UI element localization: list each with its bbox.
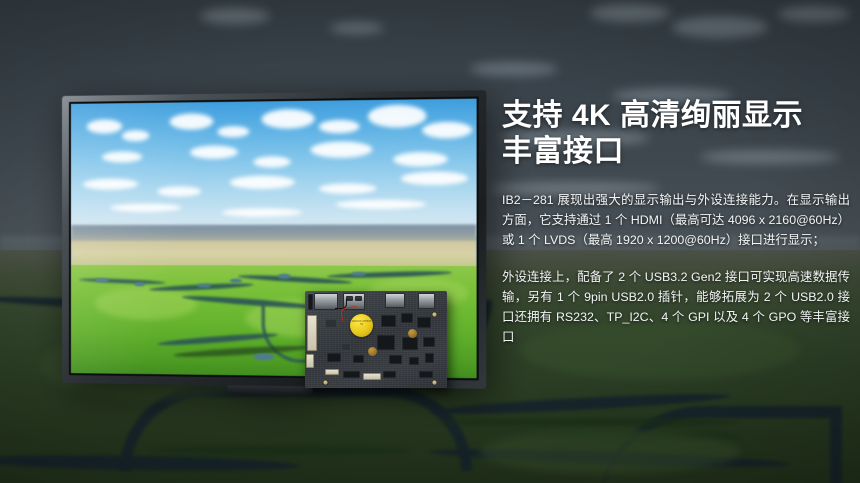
inductor-coil	[408, 329, 417, 338]
screen-pond	[230, 278, 242, 282]
gpio-pin-header	[343, 371, 360, 378]
screen-cloud	[110, 203, 181, 211]
page-title: 支持 4K 高清绚丽显示 丰富接口	[502, 98, 850, 170]
screen-cloud	[254, 156, 290, 167]
product-slide: CR2032 LITHIUM 3V 支持 4K 高清绚丽显示 丰富接口 IB	[0, 0, 860, 483]
ic-chip	[381, 315, 396, 327]
ic-chip	[425, 353, 434, 363]
screen-pond	[94, 278, 108, 283]
screen-pond	[254, 354, 274, 361]
usb3-lower-slot	[355, 296, 362, 301]
screen-pond	[134, 282, 146, 286]
battery-label: CR2032 LITHIUM 3V	[351, 320, 372, 326]
paragraph-peripheral-io: 外设连接上，配备了 2 个 USB3.2 Gen2 接口可实现高速数据传输，另有…	[502, 267, 850, 347]
motherboard: CR2032 LITHIUM 3V	[305, 291, 447, 388]
front-panel-connector	[325, 369, 339, 375]
ic-chip	[401, 313, 413, 323]
screen-cloud	[393, 152, 447, 166]
ic-chip	[327, 353, 341, 362]
ic-chip	[389, 355, 402, 364]
soc-chip	[377, 335, 395, 350]
ic-chip	[341, 343, 351, 351]
ic-chip	[417, 317, 431, 328]
io-shield-tab	[308, 294, 313, 310]
fan-connector	[363, 373, 381, 380]
hdmi-port	[385, 293, 405, 308]
screen-cloud	[422, 121, 472, 138]
tv-stand	[228, 385, 313, 395]
screen-cloud	[87, 119, 122, 133]
mounting-hole	[431, 311, 438, 318]
usb3-upper-slot	[346, 296, 353, 301]
inverter-connector	[306, 354, 314, 368]
cmos-coin-battery: CR2032 LITHIUM 3V	[350, 314, 373, 337]
ic-chip	[325, 319, 337, 328]
screen-cloud	[158, 187, 202, 197]
screen-cloud	[122, 130, 150, 141]
mounting-hole	[431, 379, 438, 386]
mounting-hole	[322, 379, 329, 386]
paragraph-display-output: IB2－281 展现出强大的显示输出与外设连接能力。在显示输出方面，它支持通过 …	[502, 190, 850, 250]
lvds-connector	[307, 315, 317, 351]
inductor-coil	[368, 347, 377, 356]
power-dc-jack	[418, 293, 435, 309]
screen-cloud	[230, 175, 295, 189]
memory-chip	[402, 337, 418, 350]
rs232-pin-header	[419, 371, 433, 378]
usb2-9pin-header	[383, 371, 396, 378]
ic-chip	[423, 337, 435, 347]
text-panel: 支持 4K 高清绚丽显示 丰富接口 IB2－281 展现出强大的显示输出与外设连…	[502, 98, 850, 347]
ic-chip	[353, 355, 364, 363]
screen-pond	[278, 274, 291, 278]
ic-chip	[409, 357, 419, 365]
